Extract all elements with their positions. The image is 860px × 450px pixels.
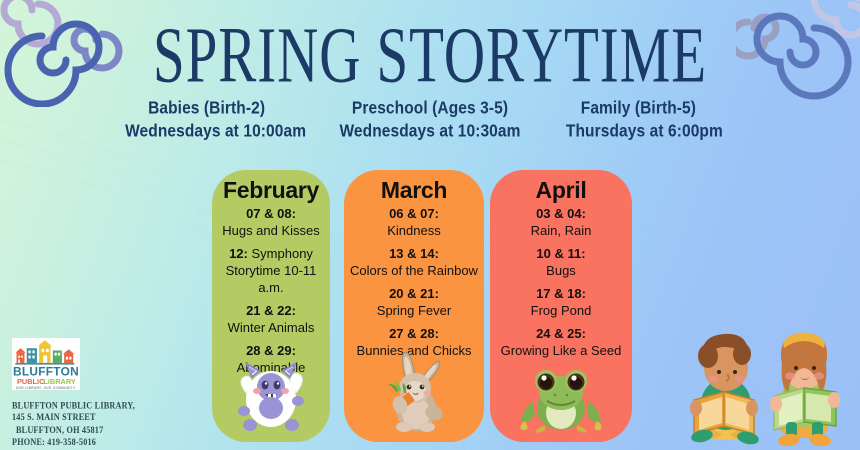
schedule-entry: 20 & 21: Spring Fever [348,285,480,319]
month-title: February [216,176,326,204]
entry-topic: Bugs [494,262,628,279]
audience-family: Family (Birth-5) Thursdays at 6:00pm [539,98,750,144]
address-line-2: 145 S. MAIN STREET [12,412,137,424]
entry-dates: 27 & 28: [348,325,480,342]
audience-babies: Babies (Birth-2) Wednesdays at 10:00am [110,98,321,144]
month-card-february: February 07 & 08: Hugs and Kisses 12: Sy… [212,170,330,442]
entry-topic: Colors of the Rainbow [348,262,480,279]
schedule-entry: 06 & 07: Kindness [348,205,480,239]
entry-dates: 03 & 04: [494,205,628,222]
entry-dates: 20 & 21: [348,285,480,302]
month-title: March [348,176,480,204]
bluffton-public-library-logo-icon: BLUFFTON PUBLIC LIBRARY OUR LIBRARY. OUR… [12,338,80,390]
entry-dates: 12: [229,246,248,261]
svg-text:PUBLIC: PUBLIC [17,377,45,386]
entry-topic: Winter Animals [216,319,326,336]
address-line-4: PHONE: 419-358-5016 [12,437,137,449]
audience-time: Wednesdays at 10:30am [324,119,535,146]
entry-dates: 24 & 25: [494,325,628,342]
schedule-entry: 13 & 14: Colors of the Rainbow [348,245,480,279]
audience-time: Wednesdays at 10:00am [110,119,321,146]
entry-dates: 17 & 18: [494,285,628,302]
entry-topic: Frog Pond [494,302,628,319]
audience-list: Babies (Birth-2) Wednesdays at 10:00am P… [110,98,750,144]
schedule-entry: 03 & 04: Rain, Rain [494,205,628,239]
spring-storytime-poster: SPRING STORYTIME Babies (Birth-2) Wednes… [0,0,860,450]
entry-topic: Spring Fever [348,302,480,319]
entry-topic: Kindness [348,222,480,239]
month-title: April [494,176,628,204]
entry-topic: Rain, Rain [494,222,628,239]
address-line-3: BLUFFTON, OH 45817 [12,425,137,437]
schedule-entry: 24 & 25: Growing Like a Seed [494,325,628,359]
entry-dates: 21 & 22: [216,302,326,319]
page-title: SPRING STORYTIME [34,6,825,106]
month-cards: February 07 & 08: Hugs and Kisses 12: Sy… [212,170,632,442]
audience-preschool: Preschool (Ages 3-5) Wednesdays at 10:30… [324,98,535,144]
svg-text:BLUFFTON: BLUFFTON [13,364,79,378]
library-address: BLUFFTON PUBLIC LIBRARY, 145 S. MAIN STR… [12,400,137,449]
children-reading-books-icon [686,322,854,448]
month-card-march: March 06 & 07: Kindness 13 & 14: Colors … [344,170,484,442]
schedule-entry: 10 & 11: Bugs [494,245,628,279]
bunny-with-carrot-icon [344,347,484,440]
audience-time: Thursdays at 6:00pm [539,119,750,146]
entry-dates: 13 & 14: [348,245,480,262]
schedule-entry: 12: Symphony Storytime 10-11 a.m. [216,245,326,296]
schedule-entry: 17 & 18: Frog Pond [494,285,628,319]
entry-dates: 10 & 11: [494,245,628,262]
entry-topic: Hugs and Kisses [216,222,326,239]
library-logo-block: BLUFFTON PUBLIC LIBRARY OUR LIBRARY. OUR… [12,338,137,442]
yeti-snowman-icon [212,353,330,440]
address-line-1: BLUFFTON PUBLIC LIBRARY, [12,400,137,412]
schedule-entry: 07 & 08: Hugs and Kisses [216,205,326,239]
entry-dates: 06 & 07: [348,205,480,222]
green-frog-icon [490,357,632,440]
entry-dates: 07 & 08: [216,205,326,222]
svg-text:LIBRARY: LIBRARY [43,377,76,386]
month-card-april: April 03 & 04: Rain, Rain 10 & 11: Bugs … [490,170,632,442]
svg-text:OUR LIBRARY. OUR COMMUNITY.: OUR LIBRARY. OUR COMMUNITY. [16,386,76,390]
schedule-entry: 21 & 22: Winter Animals [216,302,326,336]
